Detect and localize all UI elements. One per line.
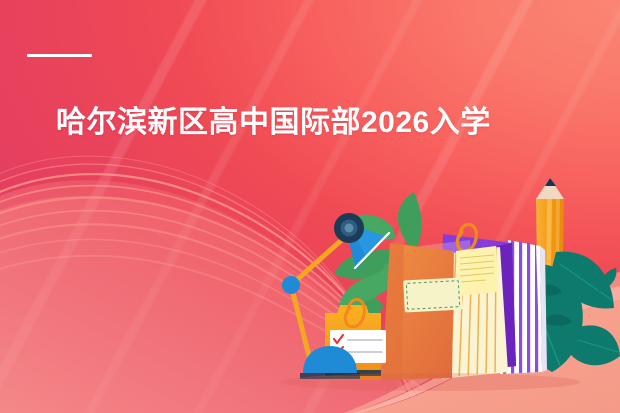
poster-canvas: 哈尔滨新区高中国际部2026入学 [0,0,620,413]
ground-shadow [280,373,580,391]
orange-notebook [382,242,463,380]
illustration-back-to-school [0,0,620,413]
lamp-joint [282,276,300,294]
